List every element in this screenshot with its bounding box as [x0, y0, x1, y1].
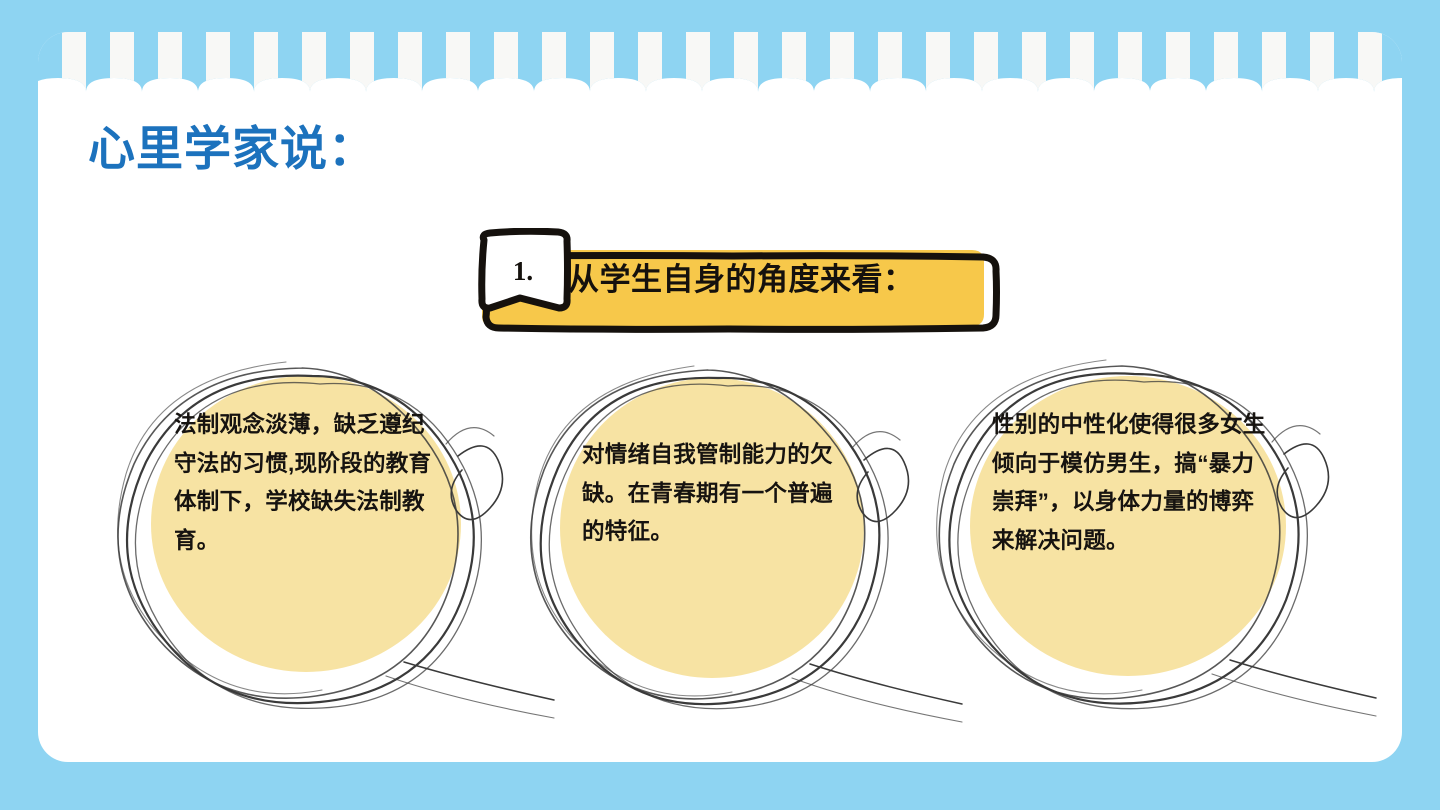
- section-label: 从学生自身的角度来看：: [568, 254, 915, 299]
- section-number: 1.: [500, 256, 546, 287]
- bubble-1[interactable]: 法制观念淡薄，缺乏遵纪守法的习惯,现阶段的教育体制下，学校缺失法制教育。: [116, 332, 516, 732]
- section-banner: 1. 从学生自身的角度来看：: [464, 228, 1004, 328]
- bubble-3-text: 性别的中性化使得很多女生倾向于模仿男生，搞“暴力崇拜”，以身体力量的博弈来解决问…: [992, 406, 1270, 561]
- slide-root: 心里学家说： 1. 从学生自身的角度来看：: [0, 0, 1440, 810]
- bubble-group: 法制观念淡薄，缺乏遵纪守法的习惯,现阶段的教育体制下，学校缺失法制教育。: [38, 332, 1402, 732]
- bubble-2-text: 对情绪自我管制能力的欠缺。在青春期有一个普遍的特征。: [582, 436, 844, 552]
- page-title: 心里学家说：: [88, 122, 376, 176]
- bubble-1-text: 法制观念淡薄，缺乏遵纪守法的习惯,现阶段的教育体制下，学校缺失法制教育。: [174, 406, 442, 561]
- bubble-3[interactable]: 性别的中性化使得很多女生倾向于模仿男生，搞“暴力崇拜”，以身体力量的博弈来解决问…: [938, 332, 1338, 732]
- bubble-2[interactable]: 对情绪自我管制能力的欠缺。在青春期有一个普遍的特征。: [530, 332, 930, 732]
- content-card: 心里学家说： 1. 从学生自身的角度来看：: [38, 32, 1402, 762]
- awning-decoration: [38, 32, 1402, 104]
